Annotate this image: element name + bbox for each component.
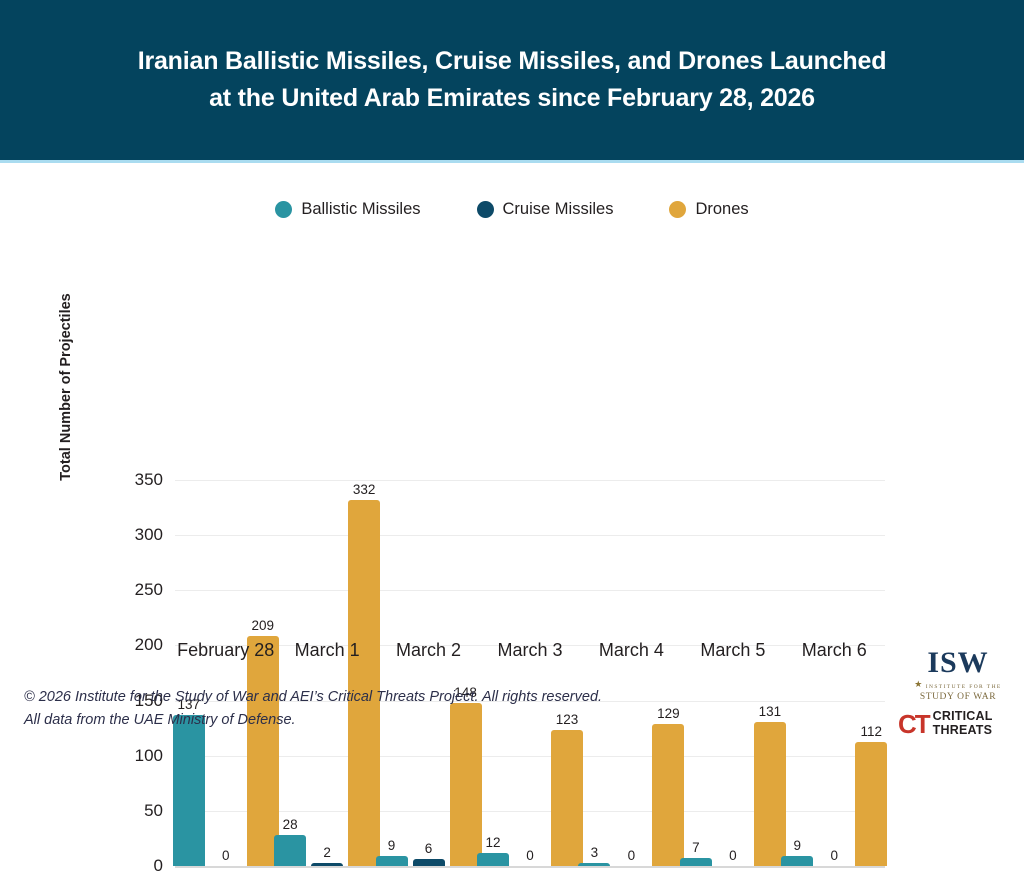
x-axis-baseline (175, 866, 885, 868)
legend-swatch-icon (477, 201, 494, 218)
y-axis-tick-label: 350 (115, 470, 163, 490)
bar-slot: 0 (717, 480, 749, 866)
bar-group: 30129 (581, 480, 682, 866)
title-line-1: Iranian Ballistic Missiles, Cruise Missi… (138, 46, 887, 77)
bar-slot: 9 (781, 480, 813, 866)
bar-group: 1370209 (175, 480, 276, 866)
bar-slot: 0 (514, 480, 546, 866)
y-axis-tick-label: 250 (115, 580, 163, 600)
legend-item-cruise-missiles[interactable]: Cruise Missiles (477, 200, 614, 219)
bar-group: 120123 (479, 480, 580, 866)
bar[interactable] (311, 863, 343, 866)
isw-logo: ISW ★INSTITUTE FOR THE STUDY OF WAR (902, 648, 1014, 703)
y-axis-title: Total Number of Projectiles (58, 257, 74, 517)
isw-tagline-top-text: INSTITUTE FOR THE (926, 684, 1002, 690)
legend-swatch-icon (669, 201, 686, 218)
star-icon: ★ (914, 678, 923, 692)
legend-item-ballistic-missiles[interactable]: Ballistic Missiles (275, 200, 420, 219)
bar-slot: 0 (210, 480, 242, 866)
ct-monogram: CT (898, 711, 929, 737)
critical-threats-logo: CT CRITICAL THREATS (898, 710, 1014, 737)
bar[interactable] (855, 742, 887, 866)
legend-label: Cruise Missiles (503, 200, 614, 219)
bar-group: 70131 (682, 480, 783, 866)
bar-slot: 112 (855, 480, 887, 866)
header-accent-line (0, 160, 1024, 163)
y-axis-tick-label: 100 (115, 746, 163, 766)
bar-slot: 2 (311, 480, 343, 866)
bar-slot: 3 (578, 480, 610, 866)
ct-word-threats: THREATS (933, 724, 993, 738)
legend-label: Drones (695, 200, 748, 219)
plot-area: 0501001502002503003501370209282332961481… (175, 480, 885, 866)
ct-wordmark: CRITICAL THREATS (933, 710, 993, 737)
bar-group: 90112 (784, 480, 885, 866)
legend-swatch-icon (275, 201, 292, 218)
y-axis-tick-label: 300 (115, 525, 163, 545)
page-title: Iranian Ballistic Missiles, Cruise Missi… (0, 0, 1024, 160)
legend-label: Ballistic Missiles (301, 200, 420, 219)
logo-group: ISW ★INSTITUTE FOR THE STUDY OF WAR CT C… (898, 648, 1014, 752)
isw-tagline-bottom: STUDY OF WAR (902, 692, 1014, 703)
bar-group: 282332 (276, 480, 377, 866)
data-source-line: All data from the UAE Ministry of Defens… (24, 709, 724, 732)
bar-slot: 6 (413, 480, 445, 866)
bar-value-label: 112 (841, 724, 901, 739)
bar-slot: 7 (680, 480, 712, 866)
chart-legend: Ballistic MissilesCruise MissilesDrones (0, 200, 1024, 219)
copyright-line: © 2026 Institute for the Study of War an… (24, 686, 724, 709)
bar-group: 96148 (378, 480, 479, 866)
bar[interactable] (173, 715, 205, 866)
chart-container: Total Number of Projectiles 050100150200… (0, 232, 1024, 672)
bar-slot: 137 (173, 480, 205, 866)
bar-slot: 0 (818, 480, 850, 866)
title-line-2: at the United Arab Emirates since Februa… (209, 83, 815, 114)
bar[interactable] (578, 863, 610, 866)
legend-item-drones[interactable]: Drones (669, 200, 748, 219)
isw-tagline-top: ★INSTITUTE FOR THE (902, 678, 1014, 692)
x-axis-tick-label: March 6 (754, 640, 914, 661)
bar[interactable] (413, 859, 445, 866)
bar-slot: 12 (477, 480, 509, 866)
ct-word-critical: CRITICAL (933, 710, 993, 724)
bar-slot: 28 (274, 480, 306, 866)
isw-wordmark: ISW (902, 648, 1014, 678)
footer-notes: © 2026 Institute for the Study of War an… (24, 686, 724, 733)
y-axis-tick-label: 0 (115, 856, 163, 876)
y-axis-tick-label: 50 (115, 801, 163, 821)
bar-slot: 0 (615, 480, 647, 866)
bar[interactable] (376, 856, 408, 866)
bar-slot: 9 (376, 480, 408, 866)
